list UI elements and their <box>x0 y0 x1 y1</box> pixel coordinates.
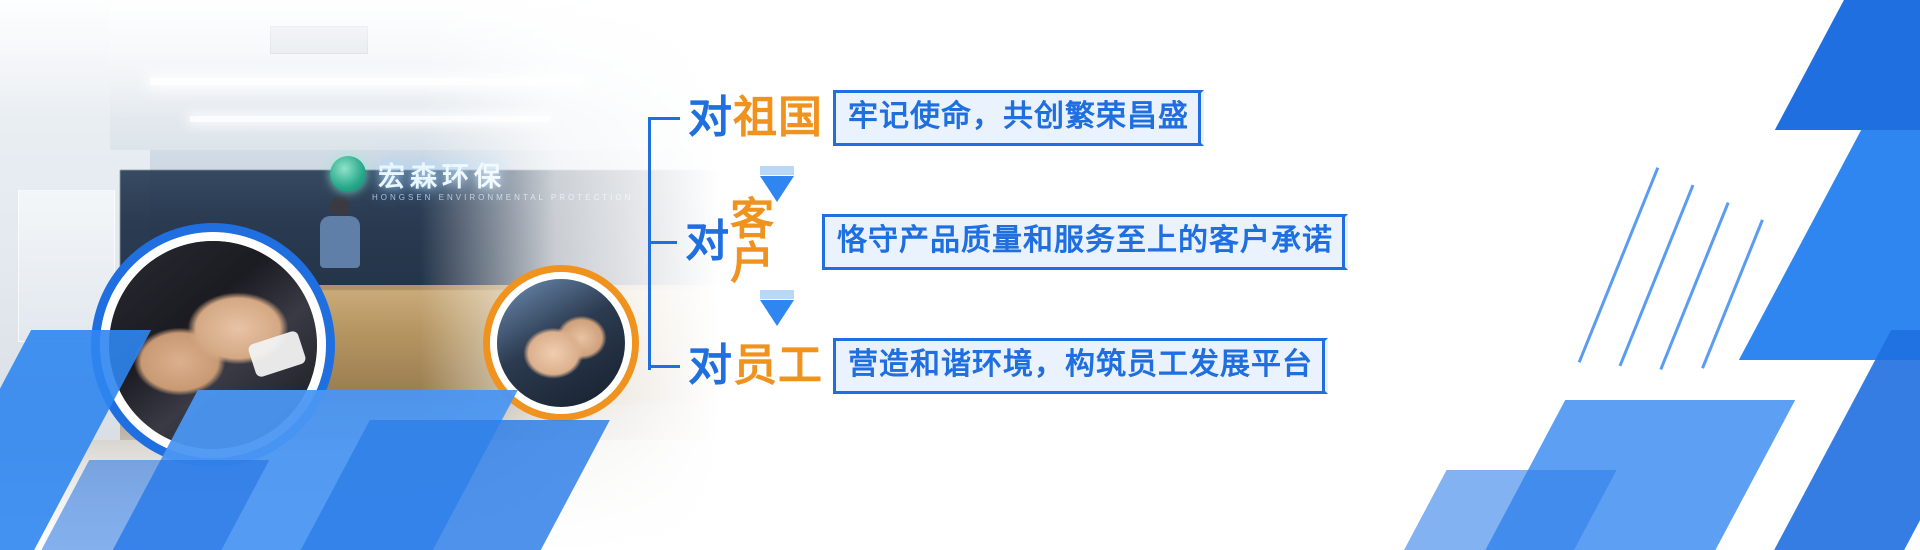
values-list: 对 祖国 牢记使命，共创繁荣昌盛 对 客户 恪守产品质量和服务至上的客户承诺 对… <box>648 70 1348 400</box>
globe-leaf-logo-icon <box>330 156 366 192</box>
value-keyword-customer: 客户 <box>730 198 812 286</box>
company-values-banner: 宏森环保 HONGSEN ENVIRONMENTAL PROTECTION 对 … <box>0 0 1920 550</box>
value-prefix-employee: 对 <box>688 344 733 388</box>
decor-shape-right-1 <box>1739 130 1920 360</box>
down-triangle-icon-2 <box>760 300 794 326</box>
value-row-employee: 对 员工 营造和谐环境，构筑员工发展平台 <box>648 338 1328 394</box>
value-row-connector-stub <box>648 365 680 368</box>
value-description-employee: 营造和谐环境，构筑员工发展平台 <box>833 338 1328 394</box>
photo-wall-panel <box>18 190 115 342</box>
value-row-connector-stub <box>648 241 677 244</box>
value-row-country: 对 祖国 牢记使命，共创繁荣昌盛 <box>648 90 1204 146</box>
reception-desk-photo: 宏森环保 HONGSEN ENVIRONMENTAL PROTECTION <box>0 0 720 550</box>
handshake-circle-photo <box>100 232 326 458</box>
applause-circle-photo <box>490 272 632 414</box>
value-prefix-country: 对 <box>688 96 733 140</box>
receptionist-body <box>320 216 360 268</box>
value-prefix-customer: 对 <box>685 220 730 264</box>
applause-photo-inner <box>497 279 625 407</box>
down-triangle-icon-cap-2 <box>760 290 794 299</box>
value-keyword-country: 祖国 <box>733 96 823 140</box>
decor-shape-bottom-right-2 <box>1393 470 1616 550</box>
value-description-customer: 恪守产品质量和服务至上的客户承诺 <box>822 214 1348 270</box>
decor-diagonal-line-1 <box>1578 167 1659 363</box>
value-description-country: 牢记使命，共创繁荣昌盛 <box>833 90 1204 146</box>
value-row-connector-stub <box>648 117 680 120</box>
decor-shape-right-2 <box>1769 330 1920 550</box>
decor-shape-top-right-1 <box>1775 0 1920 130</box>
value-keyword-employee: 员工 <box>733 344 823 388</box>
decor-diagonal-line-2 <box>1619 185 1695 367</box>
down-triangle-icon-cap-1 <box>760 166 794 175</box>
photo-receptionist <box>318 196 362 266</box>
decor-shape-bottom-right-1 <box>1475 400 1795 550</box>
value-row-customer: 对 客户 恪守产品质量和服务至上的客户承诺 <box>648 214 1348 270</box>
decor-diagonal-line-3 <box>1659 202 1729 370</box>
